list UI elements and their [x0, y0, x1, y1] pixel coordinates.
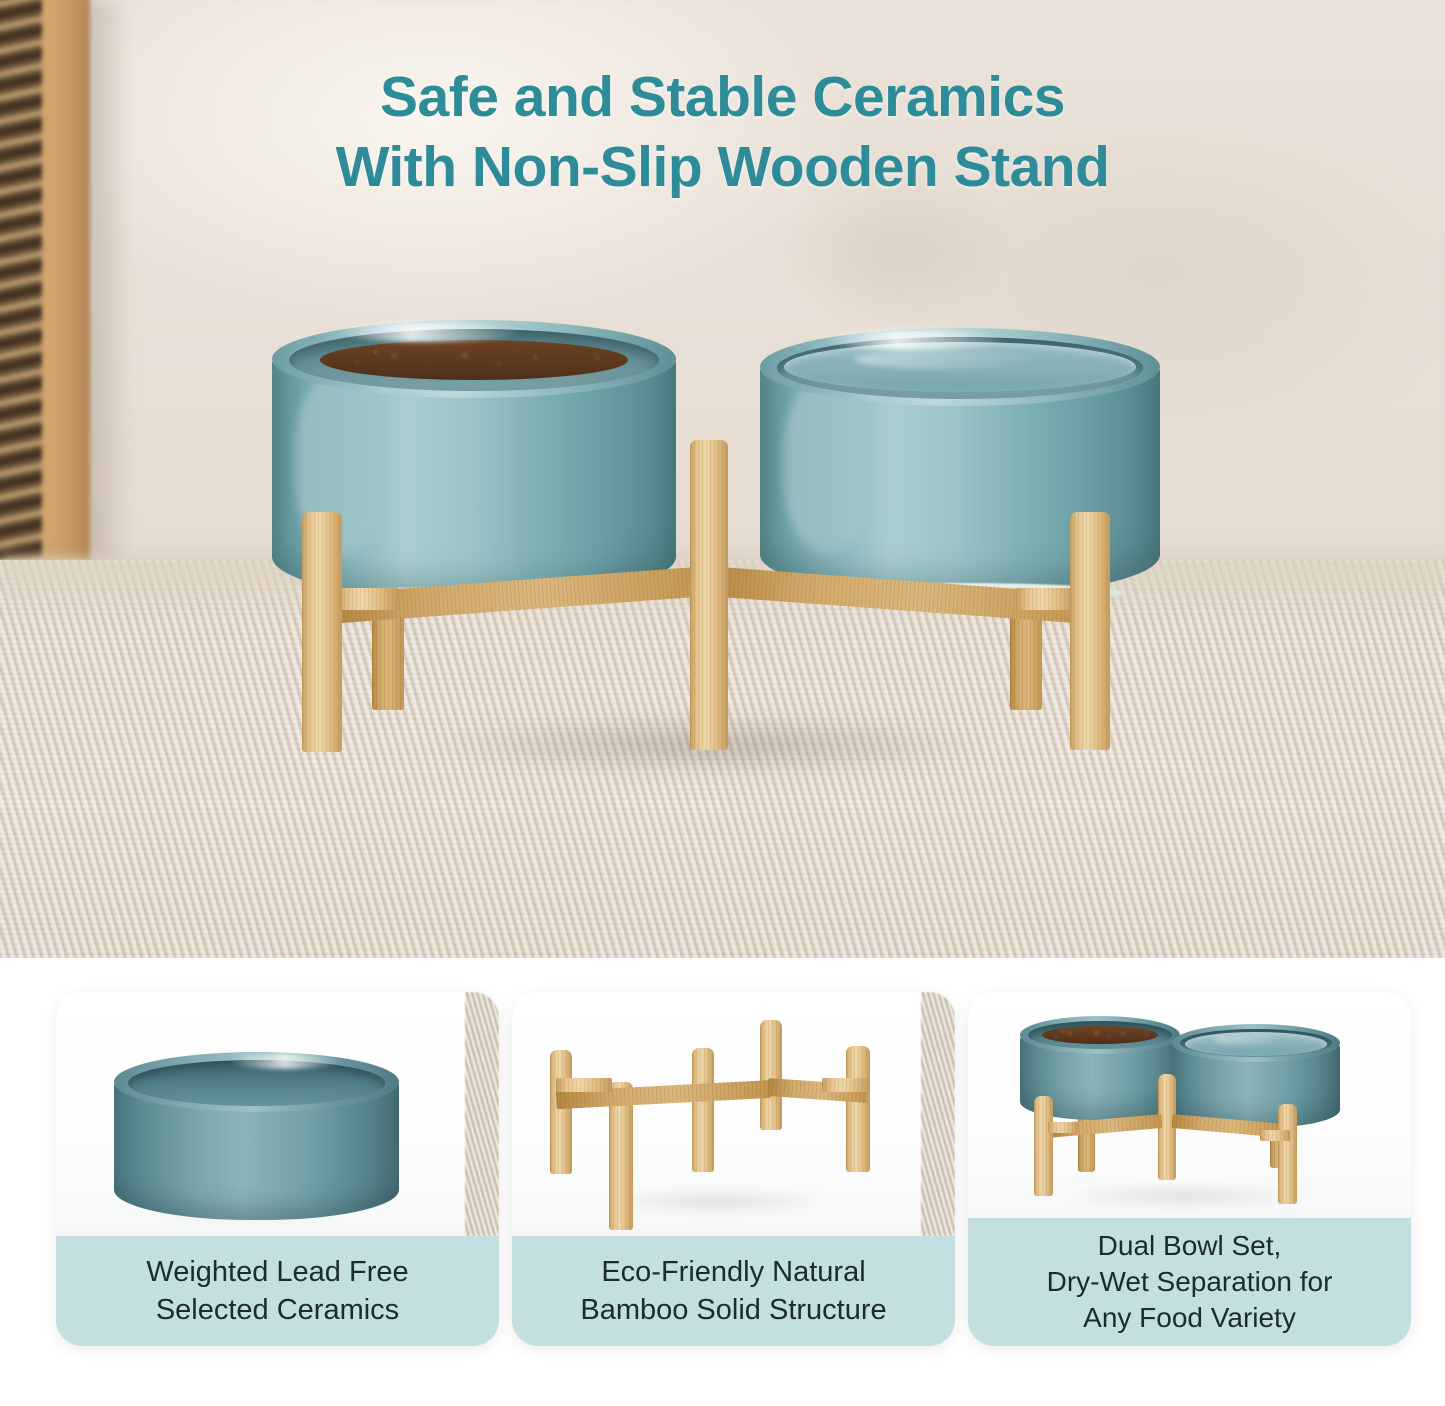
card1-rug-sliver	[465, 992, 499, 1236]
card2-leg-far-right	[846, 1046, 870, 1172]
card3-kibble	[1042, 1026, 1157, 1044]
card3-crossbar-left	[1048, 1122, 1078, 1133]
bowl-left-highlight	[337, 322, 523, 342]
card2-post-center-high	[760, 1020, 782, 1130]
stand-crossbar-right	[1016, 588, 1076, 610]
card2-caption: Eco-Friendly Natural Bamboo Solid Struct…	[512, 1236, 955, 1346]
feature-card-weighted-ceramics[interactable]: Weighted Lead Free Selected Ceramics	[56, 992, 499, 1346]
feature-cards-row: Weighted Lead Free Selected Ceramics Eco…	[0, 958, 1445, 1406]
card1-bowl-highlight	[228, 1053, 342, 1069]
page-title: Safe and Stable Ceramics With Non-Slip W…	[0, 62, 1445, 202]
card3-photo	[968, 992, 1411, 1218]
card3-front-leg-left	[1034, 1096, 1053, 1196]
card2-crossbar-left	[556, 1078, 612, 1092]
card3-bowl-water	[1172, 1024, 1340, 1128]
card3-crossbar-right	[1260, 1130, 1290, 1141]
bowl-right-highlight	[824, 330, 1008, 350]
card2-rug-sliver	[921, 992, 955, 1236]
title-line-2: With Non-Slip Wooden Stand	[0, 132, 1445, 202]
card1-photo	[56, 992, 499, 1236]
title-line-1: Safe and Stable Ceramics	[0, 62, 1445, 132]
card2-leg-far-left	[550, 1050, 572, 1174]
card2-crossbar-right	[822, 1078, 870, 1092]
card1-caption: Weighted Lead Free Selected Ceramics	[56, 1236, 499, 1346]
card2-stand-shadow	[552, 1184, 882, 1218]
feature-card-bamboo-structure[interactable]: Eco-Friendly Natural Bamboo Solid Struct…	[512, 992, 955, 1346]
card2-photo	[512, 992, 955, 1236]
stand-crossbar-left	[336, 588, 398, 610]
dry-food-kibble	[320, 340, 627, 380]
stand-front-leg-right	[1070, 512, 1110, 750]
card2-post-center-low	[692, 1048, 714, 1172]
card3-front-leg-right	[1278, 1104, 1297, 1204]
feature-card-dual-bowl-set[interactable]: Dual Bowl Set, Dry-Wet Separation for An…	[968, 992, 1411, 1346]
stand-front-leg-left	[302, 512, 342, 752]
stand-center-post	[690, 440, 728, 750]
card3-water	[1185, 1032, 1326, 1056]
card3-set-shadow	[1008, 1180, 1358, 1212]
single-ceramic-bowl	[114, 1052, 399, 1220]
card3-caption: Dual Bowl Set, Dry-Wet Separation for An…	[968, 1218, 1411, 1346]
water-surface	[784, 342, 1136, 392]
hero-scene: Safe and Stable Ceramics With Non-Slip W…	[0, 0, 1445, 1000]
